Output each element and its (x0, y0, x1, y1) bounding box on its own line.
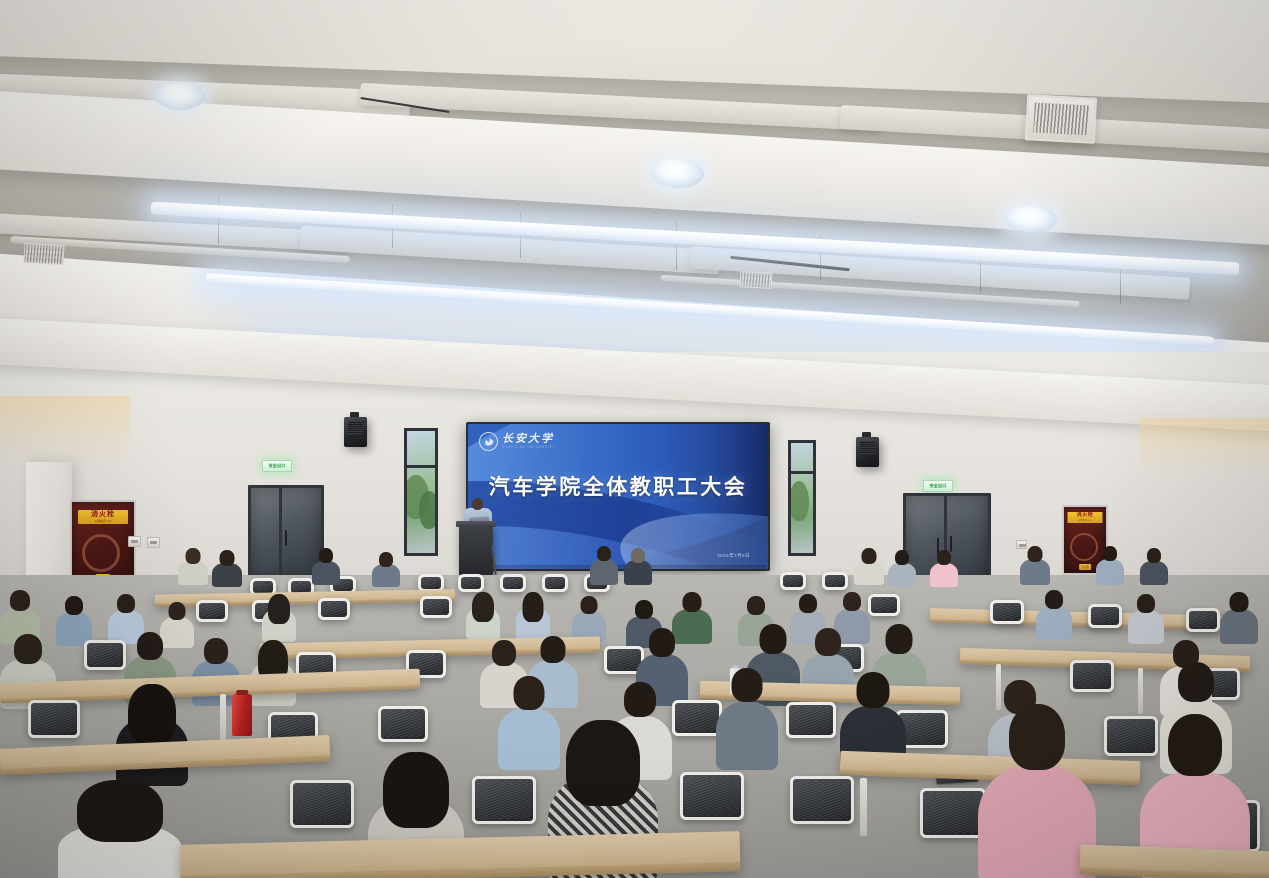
university-seal-icon (479, 432, 498, 451)
attendee-head (1230, 592, 1249, 612)
hydrant-sign: 消火栓 火警电话 119 (78, 510, 128, 524)
attendee (572, 596, 606, 640)
attendee-head (635, 600, 653, 619)
exit-sign-text: 安全出口 (269, 463, 286, 469)
attendee (1140, 548, 1168, 584)
chair[interactable] (318, 598, 350, 620)
attendee (1128, 594, 1164, 642)
attendee-body (1140, 561, 1168, 585)
attendee-body (888, 563, 916, 587)
attendee (1096, 546, 1124, 584)
attendee (1020, 546, 1050, 584)
attendee-body (624, 560, 652, 585)
door-handle[interactable] (285, 530, 287, 546)
attendee-hair (383, 752, 449, 828)
attendee (854, 548, 884, 584)
attendee-head (862, 548, 877, 564)
attendee-head (169, 602, 186, 620)
attendee-head (137, 632, 163, 660)
chair[interactable] (378, 706, 428, 742)
exit-sign-left: 安全出口 (262, 460, 292, 472)
chair[interactable] (786, 702, 836, 738)
chair[interactable] (1070, 660, 1114, 692)
attendee-body (1096, 559, 1124, 585)
chair[interactable] (672, 700, 722, 736)
attendee-head (14, 634, 42, 664)
chair[interactable] (920, 788, 986, 838)
attendee-head (597, 546, 611, 561)
attendee (466, 592, 500, 638)
tree-foliage (419, 491, 438, 529)
chair[interactable] (780, 572, 806, 590)
attendee (516, 592, 550, 638)
window-right (788, 440, 816, 556)
desk-leg (220, 694, 226, 742)
extinguisher-plate: 灭火器 (1079, 564, 1091, 570)
attendee (372, 552, 400, 586)
attendee-head (1103, 546, 1117, 561)
chair[interactable] (84, 640, 126, 670)
wall-speaker-right (856, 437, 879, 467)
attendee-head (760, 624, 787, 654)
chair[interactable] (680, 772, 744, 820)
attendee (1036, 590, 1072, 638)
attendee-head (886, 624, 913, 654)
attendee-head (1178, 662, 1214, 702)
attendee-body (1128, 610, 1164, 644)
attendee (930, 550, 958, 586)
attendee (978, 704, 1096, 878)
hydrant-sublabel-cn: 火警电话 119 (95, 519, 112, 523)
attendee-head (843, 592, 861, 611)
chair[interactable] (868, 594, 900, 616)
chair[interactable] (290, 780, 354, 828)
hvac-diffuser-icon (740, 271, 773, 289)
podium (459, 525, 493, 575)
chair[interactable] (990, 600, 1024, 624)
attendee (1220, 592, 1258, 642)
window-divider (407, 465, 435, 468)
attendee-head (220, 550, 235, 566)
lecture-hall-photo: 消火栓 火警电话 119 灭火器 安全出口 长安大学 CH (0, 0, 1269, 878)
attendee-head (10, 590, 30, 611)
university-name-en: CHANG'AN UNIVERSITY (502, 446, 556, 449)
attendee-head (541, 636, 566, 663)
attendee-body (590, 559, 618, 585)
attendee-body (212, 563, 242, 587)
chair[interactable] (196, 600, 228, 622)
attendee (716, 668, 778, 768)
door-mullion (279, 488, 282, 580)
chair[interactable] (822, 572, 848, 590)
attendee-body (854, 561, 884, 585)
attendee-head (815, 628, 841, 656)
chair[interactable] (790, 776, 854, 824)
attendee-body (1220, 609, 1258, 644)
wall-socket[interactable] (128, 536, 141, 547)
attendee-head (117, 594, 135, 613)
wall-socket[interactable] (147, 537, 160, 548)
chair[interactable] (542, 574, 568, 592)
hydrant-sublabel-cn: 火警电话 119 (1078, 519, 1091, 522)
attendee-body (716, 702, 778, 770)
attendee (590, 546, 618, 584)
attendee-head (799, 594, 817, 613)
attendee-head (1045, 590, 1063, 609)
hose-reel (1070, 533, 1098, 561)
attendee-body (312, 561, 340, 585)
hvac-diffuser-icon (1025, 94, 1097, 144)
attendee-head (857, 672, 890, 708)
attendee (262, 594, 296, 640)
bottle-cap (236, 690, 248, 695)
ceiling-hanger-rod (218, 196, 219, 244)
water-bottle[interactable] (232, 694, 252, 736)
university-name-cn: 长安大学 (502, 433, 556, 444)
cove-light-wash (0, 396, 130, 466)
exit-sign-right: 安全出口 (923, 480, 953, 492)
university-logo: 长安大学 CHANG'AN UNIVERSITY (479, 432, 556, 451)
attendee-head (631, 548, 645, 563)
attendee-head (186, 548, 201, 564)
cove-light-wash (1140, 418, 1269, 478)
attendee-head (379, 552, 393, 567)
ceiling-hanger-rod (676, 222, 677, 270)
attendee-hair (566, 720, 640, 806)
exit-sign-text: 安全出口 (930, 483, 947, 489)
meeting-title: 汽车学院全体教职工大会 (468, 471, 768, 501)
attendee-head (747, 596, 765, 615)
chair[interactable] (1088, 604, 1122, 628)
attendee-head (1009, 704, 1065, 770)
attendee-head (683, 592, 702, 612)
attendee-hair (77, 780, 163, 842)
attendee (312, 548, 340, 584)
attendee-hair (128, 684, 176, 744)
hvac-diffuser-icon (23, 243, 64, 265)
desk-leg (1138, 668, 1143, 714)
presentation-screen[interactable]: 长安大学 CHANG'AN UNIVERSITY 汽车学院全体教职工大会 202… (466, 422, 770, 571)
presenter-head (472, 498, 483, 510)
attendee (888, 550, 916, 586)
attendee-head (1028, 546, 1043, 562)
chair[interactable] (500, 574, 526, 592)
attendee (178, 548, 208, 584)
meeting-date: 2024年7月8日 (717, 553, 750, 559)
chair[interactable] (28, 700, 80, 738)
attendee-head (65, 596, 83, 615)
chair[interactable] (420, 596, 452, 618)
attendee-head (732, 668, 763, 702)
attendee (250, 640, 296, 704)
tree-foliage (789, 481, 809, 521)
chair[interactable] (472, 776, 536, 824)
attendee-body (930, 563, 958, 587)
attendee-head (895, 550, 909, 565)
attendee-head (1147, 548, 1161, 563)
hydrant-sign: 消火栓 火警电话 119 (1068, 512, 1103, 523)
attendee-head (514, 676, 545, 710)
chair[interactable] (458, 574, 484, 592)
attendee (624, 548, 652, 584)
attendee (56, 596, 92, 644)
attendee (58, 780, 182, 878)
attendee-body (1036, 606, 1072, 640)
attendee-head (937, 550, 951, 565)
hydrant-label-cn: 消火栓 (91, 511, 115, 518)
attendee-body (178, 561, 208, 585)
wall-speaker-left (344, 417, 367, 447)
hose-reel (82, 534, 120, 572)
attendee-hair (268, 594, 290, 624)
attendee-head (1137, 594, 1155, 613)
attendee-head (319, 548, 333, 563)
hydrant-label-cn: 消火栓 (1077, 513, 1094, 518)
window-left (404, 428, 438, 556)
desk-row-foreground (1080, 845, 1269, 878)
attendee-head (581, 596, 598, 614)
fire-hydrant-cabinet: 消火栓 火警电话 119 灭火器 (70, 500, 136, 586)
attendee-head (204, 638, 228, 664)
attendee-body (978, 766, 1096, 878)
attendee-head (492, 640, 516, 666)
chair[interactable] (1186, 608, 1220, 632)
window-divider (791, 471, 813, 474)
attendee-body (372, 564, 400, 587)
podium-top (456, 521, 496, 527)
attendee-hair (472, 592, 494, 622)
attendee-head (624, 682, 656, 717)
attendee-head (1168, 714, 1222, 776)
desk-leg (860, 778, 867, 836)
attendee-body (1020, 559, 1050, 585)
attendee-hair (523, 592, 544, 622)
attendee-head (649, 628, 675, 657)
attendee (212, 550, 242, 586)
